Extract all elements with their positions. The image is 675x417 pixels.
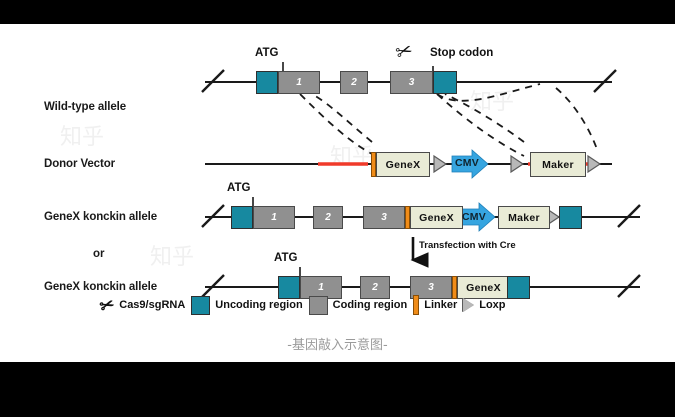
row-label-knockin-allele-1: GeneX konckin allele xyxy=(44,211,157,223)
legend-label-loxp: Loxp xyxy=(479,299,505,311)
maker-box-row2: Maker xyxy=(530,152,586,177)
letterbox-top xyxy=(0,0,675,24)
exon-2-row1: 2 xyxy=(340,71,368,94)
exon-2-row3: 2 xyxy=(313,206,343,229)
genex-box-row3: GeneX xyxy=(410,206,463,229)
diagram-canvas: 知乎 知乎 知乎 知乎 xyxy=(0,24,675,362)
legend-item-linker: Linker xyxy=(413,295,457,315)
legend-item-uncoding: Uncoding region xyxy=(191,296,302,315)
orange-bar-icon xyxy=(413,295,419,315)
scissors-icon: ✂ xyxy=(98,295,117,316)
crossover-dashed-lines xyxy=(300,84,598,156)
legend-label-cas9: Cas9/sgRNA xyxy=(119,299,185,311)
cmv-label-row2: CMV xyxy=(455,157,479,169)
gray-square-icon xyxy=(309,296,328,315)
exon-3-row3: 3 xyxy=(363,206,405,229)
maker-box-row3: Maker xyxy=(498,206,550,229)
utr-box-row3-left xyxy=(231,206,253,229)
row-label-wild-type: Wild-type allele xyxy=(44,101,126,113)
legend-label-linker: Linker xyxy=(424,299,457,311)
letterbox-bottom xyxy=(0,362,675,417)
genex-box-row2: GeneX xyxy=(376,152,430,177)
legend-label-uncoding: Uncoding region xyxy=(215,299,302,311)
legend-item-loxp: Loxp xyxy=(463,298,505,312)
triangle-icon xyxy=(463,298,474,312)
legend-item-coding: Coding region xyxy=(309,296,408,315)
atg-label-row1: ATG xyxy=(255,47,278,59)
exon-1-row3: 1 xyxy=(253,206,295,229)
cmv-label-row3: CMV xyxy=(462,211,486,223)
loxp-icon xyxy=(511,156,523,172)
atg-label-row3: ATG xyxy=(227,182,250,194)
figure-caption: -基因敲入示意图- xyxy=(0,334,675,353)
row-label-or: or xyxy=(93,248,105,260)
utr-box-row1-left xyxy=(256,71,278,94)
utr-box-row3-right xyxy=(559,206,582,229)
screenshot-root: 知乎 知乎 知乎 知乎 xyxy=(0,0,675,417)
utr-box-row1-right xyxy=(433,71,457,94)
loxp-icon xyxy=(434,156,446,172)
row-label-donor-vector: Donor Vector xyxy=(44,158,115,170)
stop-codon-label: Stop codon xyxy=(430,47,493,59)
exon-1-row1: 1 xyxy=(278,71,320,94)
legend-item-cas9: ✂ Cas9/sgRNA xyxy=(100,297,185,314)
transfection-label: Transfection with Cre xyxy=(419,240,516,251)
loxp-icon xyxy=(588,156,600,172)
teal-square-icon xyxy=(191,296,210,315)
legend-label-coding: Coding region xyxy=(333,299,408,311)
atg-label-row4: ATG xyxy=(274,252,297,264)
exon-3-row1: 3 xyxy=(390,71,433,94)
legend: ✂ Cas9/sgRNA Uncoding region Coding regi… xyxy=(100,292,580,318)
